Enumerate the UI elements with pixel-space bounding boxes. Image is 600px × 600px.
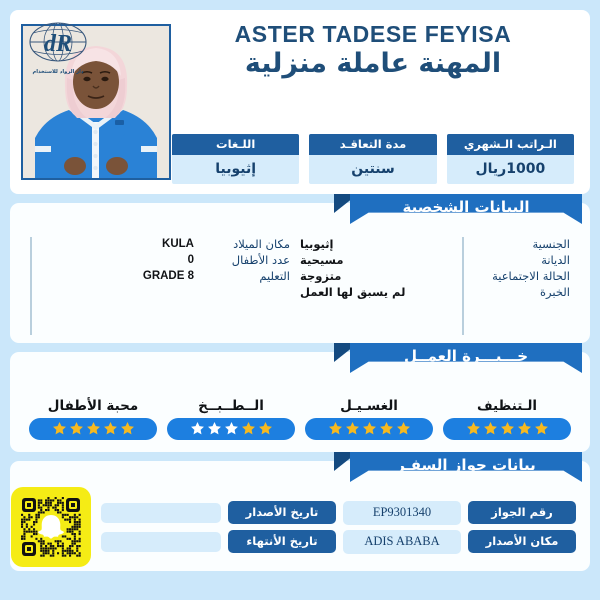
value-children-count: 0: [40, 253, 194, 268]
work-experience-body: الـتنظيف الغسـيـل الــطــبــخ محبة الأطف…: [10, 352, 590, 452]
label-marital-status: الحالة الاجتماعية: [474, 269, 570, 284]
applicant-name: ASTER TADESE FEYISA: [172, 22, 574, 46]
skill-rating-stars: [29, 418, 157, 440]
label-experience: الخبرة: [474, 285, 570, 300]
skill-cooking: الــطــبــخ: [167, 398, 295, 440]
header-main: dR دار الرواد للاستخدام ASTER TADESE FEY…: [172, 18, 580, 186]
globe-logo-icon: dR: [27, 20, 89, 68]
info-box-label: مدة التعاقـد: [309, 134, 436, 155]
value-birth-place: KULA: [40, 237, 194, 252]
star-icon: [328, 421, 343, 436]
issue-date-label[interactable]: تاريخ الأصدار: [228, 501, 336, 524]
skill-rating-stars: [443, 418, 571, 440]
star-icon: [103, 421, 118, 436]
value-religion: مسيحية: [300, 253, 454, 268]
passport-number-value[interactable]: EP9301340: [343, 501, 461, 525]
label-religion: الديانة: [474, 253, 570, 268]
star-icon: [190, 421, 205, 436]
info-box-salary: الـراتب الـشهري 1000ريال: [447, 134, 574, 184]
info-box-label: اللـغات: [172, 134, 299, 155]
passport-data-body: رقم الجواز EP9301340 تاريخ الأصدار مكان …: [10, 461, 590, 571]
company-logo: dR دار الرواد للاستخدام: [12, 20, 104, 75]
value-marital-status: متزوجة: [300, 269, 454, 284]
star-icon: [241, 421, 256, 436]
applicant-profession: المهنة عاملة منزلية: [172, 47, 574, 81]
skill-label: الـتنظيف: [443, 398, 571, 414]
star-icon: [396, 421, 411, 436]
personal-data-body: الجنسية الديانة الحالة الاجتماعية الخبرة…: [10, 203, 590, 343]
snapchat-qr-code-icon[interactable]: [11, 487, 91, 567]
skill-childcare: محبة الأطفال: [29, 398, 157, 440]
star-icon: [379, 421, 394, 436]
info-box-languages: اللـغات إثيوبيا: [172, 134, 299, 184]
star-icon: [483, 421, 498, 436]
personal-left-column: مكان الميلاد عدد الأطفال التعليم KULA 0 …: [26, 237, 300, 335]
passport-number-label[interactable]: رقم الجواز: [468, 501, 576, 524]
skill-rating-stars: [167, 418, 295, 440]
star-icon: [69, 421, 84, 436]
issue-place-value[interactable]: ADIS ABABA: [343, 530, 461, 554]
expiry-date-value[interactable]: [101, 532, 221, 552]
label-education: التعليم: [194, 269, 290, 284]
passport-fields: رقم الجواز EP9301340 تاريخ الأصدار مكان …: [101, 501, 576, 554]
skill-label: الغسـيـل: [305, 398, 433, 414]
passport-row-number: رقم الجواز EP9301340 تاريخ الأصدار: [101, 501, 576, 525]
header-info-boxes: الـراتب الـشهري 1000ريال مدة التعاقـد سن…: [172, 134, 574, 186]
info-box-value: سنتين: [309, 155, 436, 184]
skill-label: الــطــبــخ: [167, 398, 295, 414]
info-box-contract-duration: مدة التعاقـد سنتين: [309, 134, 436, 184]
qr-code-graphic: [15, 491, 87, 563]
info-box-value: إثيوبيا: [172, 155, 299, 184]
skill-laundry: الغسـيـل: [305, 398, 433, 440]
value-experience: لم يسبق لها العمل: [300, 285, 454, 300]
work-experience-section: خـــبـــرة العمــل الـتنظيف الغسـيـل الـ…: [10, 352, 590, 452]
value-nationality: إثيوبيا: [300, 237, 454, 252]
personal-right-labels: الجنسية الديانة الحالة الاجتماعية الخبرة: [464, 237, 570, 335]
star-icon: [258, 421, 273, 436]
star-icon: [500, 421, 515, 436]
star-icon: [224, 421, 239, 436]
star-icon: [362, 421, 377, 436]
skill-rating-stars: [305, 418, 433, 440]
star-icon: [120, 421, 135, 436]
star-icon: [534, 421, 549, 436]
personal-left-values: KULA 0 GRADE 8: [30, 237, 194, 335]
star-icon: [86, 421, 101, 436]
info-box-label: الـراتب الـشهري: [447, 134, 574, 155]
svg-text:dR: dR: [44, 31, 72, 57]
issue-date-value[interactable]: [101, 503, 221, 523]
label-nationality: الجنسية: [474, 237, 570, 252]
star-icon: [345, 421, 360, 436]
personal-left-labels: مكان الميلاد عدد الأطفال التعليم: [194, 237, 300, 335]
star-icon: [466, 421, 481, 436]
label-birth-place: مكان الميلاد: [194, 237, 290, 252]
passport-row-place: مكان الأصدار ADIS ABABA تاريخ الأنتهاء: [101, 530, 576, 554]
label-children-count: عدد الأطفال: [194, 253, 290, 268]
passport-data-section: بيانات جواز السفـر رقم الجواز EP9301340 …: [10, 461, 590, 571]
star-icon: [517, 421, 532, 436]
cv-page: dR دار الرواد للاستخدام ASTER TADESE FEY…: [0, 0, 600, 600]
issue-place-label[interactable]: مكان الأصدار: [468, 530, 576, 553]
value-education: GRADE 8: [40, 269, 194, 284]
skill-cleaning: الـتنظيف: [443, 398, 571, 440]
company-logo-caption: دار الرواد للاستخدام: [12, 69, 104, 75]
title-block: ASTER TADESE FEYISA المهنة عاملة منزلية: [172, 18, 574, 81]
skill-label: محبة الأطفال: [29, 398, 157, 414]
personal-right-values: إثيوبيا مسيحية متزوجة لم يسبق لها العمل: [300, 237, 464, 335]
personal-right-column: الجنسية الديانة الحالة الاجتماعية الخبرة…: [300, 237, 574, 335]
expiry-date-label[interactable]: تاريخ الأنتهاء: [228, 530, 336, 553]
star-icon: [52, 421, 67, 436]
personal-data-section: البيانات الشخصية الجنسية الديانة الحالة …: [10, 203, 590, 343]
header-card: dR دار الرواد للاستخدام ASTER TADESE FEY…: [10, 10, 590, 194]
info-box-value: 1000ريال: [447, 155, 574, 184]
star-icon: [207, 421, 222, 436]
